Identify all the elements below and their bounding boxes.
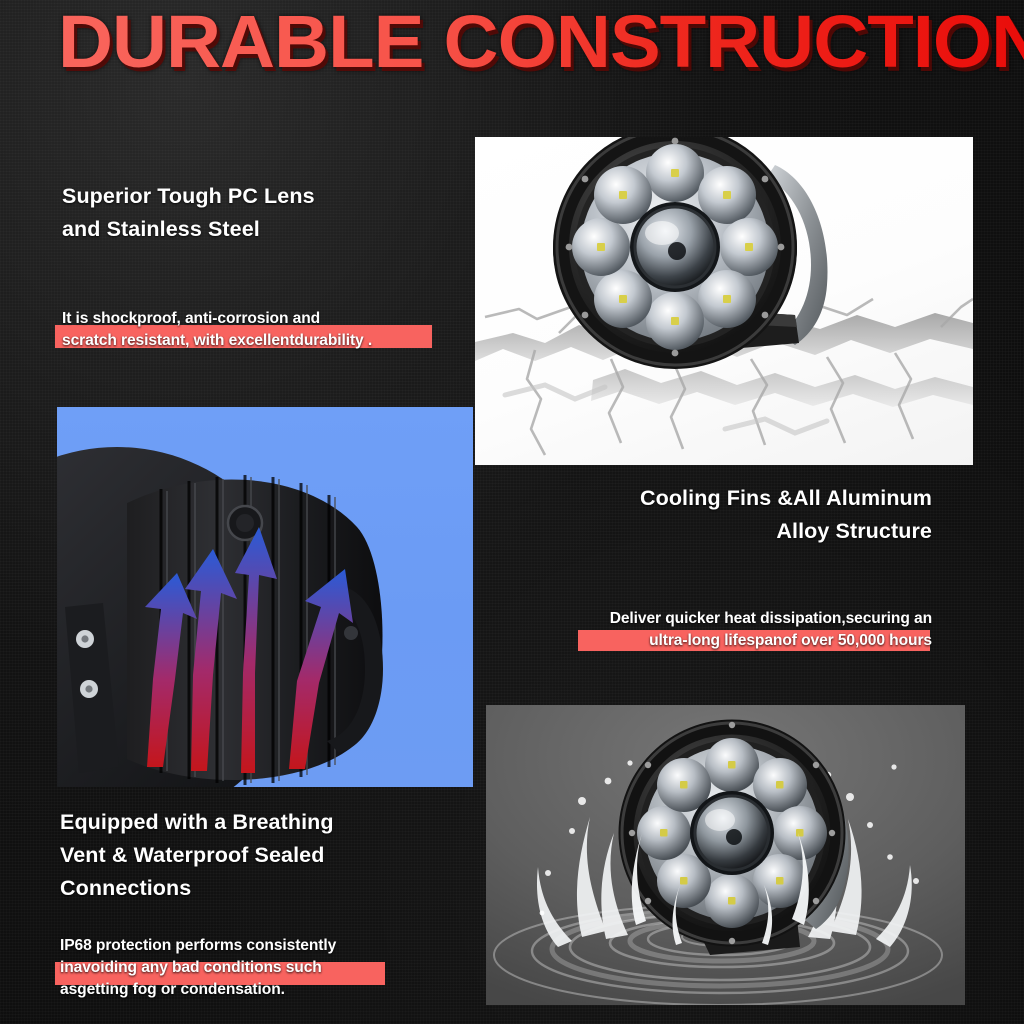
feature-block-cooling: Cooling Fins &All Aluminum Alloy Structu… bbox=[520, 482, 932, 652]
feature-body-vent-line1: IP68 protection performs consistently bbox=[60, 935, 460, 957]
infographic-root: DURABLE CONSTRUCTION bbox=[0, 0, 1024, 1024]
image-panel-cooling-fins bbox=[57, 407, 473, 787]
cooling-fins-graphic bbox=[57, 407, 473, 787]
feature-heading-lens: Superior Tough PC Lens and Stainless Ste… bbox=[62, 180, 462, 246]
feature-body-vent: IP68 protection performs consistently in… bbox=[60, 935, 460, 1001]
feature-body-vent-line2: inavoiding any bad conditions such bbox=[60, 957, 460, 979]
image-panel-water-splash bbox=[486, 705, 965, 1005]
feature-heading-lens-line1: Superior Tough PC Lens bbox=[62, 180, 462, 213]
feature-heading-vent-line2: Vent & Waterproof Sealed bbox=[60, 839, 460, 872]
feature-body-vent-line3: asgetting fog or condensation. bbox=[60, 979, 460, 1001]
water-splash-graphic bbox=[486, 705, 965, 1005]
feature-heading-cooling: Cooling Fins &All Aluminum Alloy Structu… bbox=[520, 482, 932, 548]
feature-heading-cooling-line2: Alloy Structure bbox=[520, 515, 932, 548]
feature-body-lens-line2: scratch resistant, with excellentdurabil… bbox=[62, 330, 462, 352]
feature-heading-vent-line3: Connections bbox=[60, 872, 460, 905]
feature-heading-vent: Equipped with a Breathing Vent & Waterpr… bbox=[60, 806, 460, 905]
feature-heading-lens-line2: and Stainless Steel bbox=[62, 213, 462, 246]
image-panel-cracked-ground bbox=[475, 137, 973, 465]
feature-block-vent: Equipped with a Breathing Vent & Waterpr… bbox=[60, 806, 460, 1001]
feature-body-cooling: Deliver quicker heat dissipation,securin… bbox=[520, 608, 932, 652]
feature-body-cooling-line2: ultra-long lifespanof over 50,000 hours bbox=[520, 630, 932, 652]
feature-body-lens-line1: It is shockproof, anti-corrosion and bbox=[62, 308, 462, 330]
feature-heading-vent-line1: Equipped with a Breathing bbox=[60, 806, 460, 839]
page-title: DURABLE CONSTRUCTION bbox=[58, 2, 1024, 82]
feature-heading-cooling-line1: Cooling Fins &All Aluminum bbox=[520, 482, 932, 515]
feature-body-lens: It is shockproof, anti-corrosion and scr… bbox=[62, 308, 462, 352]
feature-body-cooling-line1: Deliver quicker heat dissipation,securin… bbox=[520, 608, 932, 630]
feature-block-lens: Superior Tough PC Lens and Stainless Ste… bbox=[62, 180, 462, 352]
led-light-product-front bbox=[475, 137, 973, 465]
